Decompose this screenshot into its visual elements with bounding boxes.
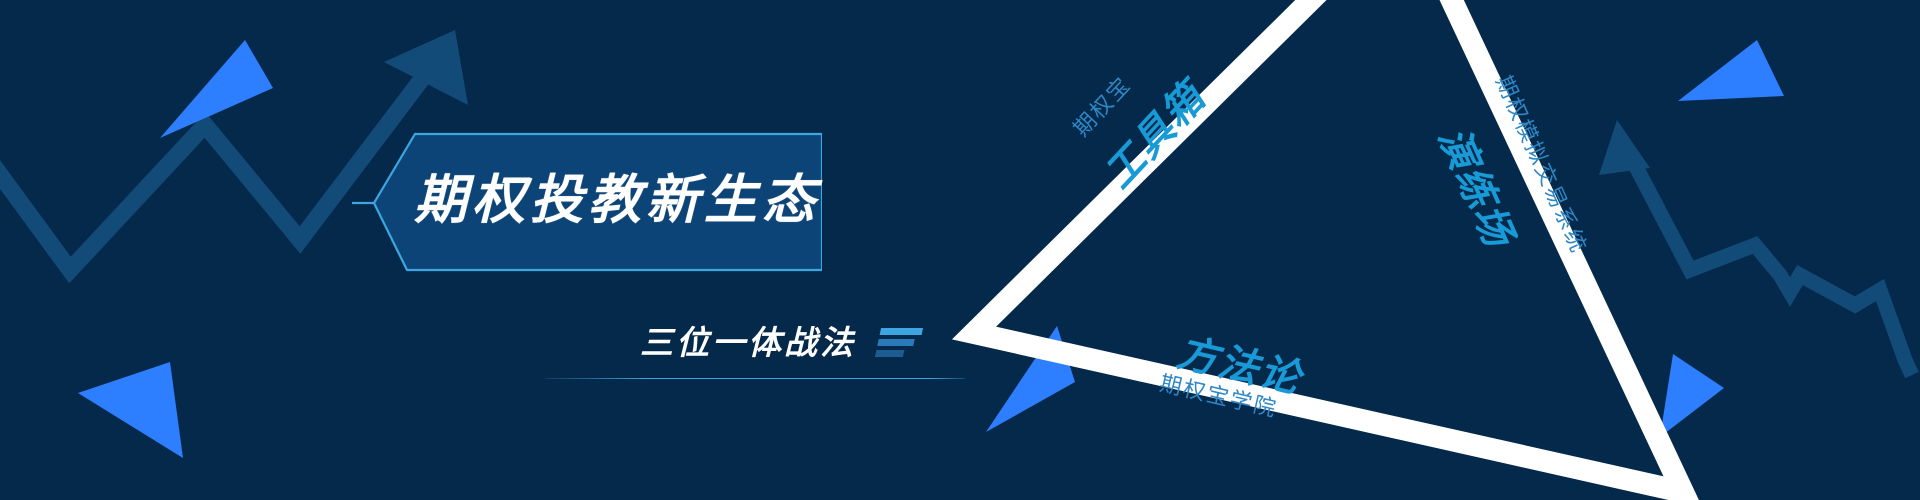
bar-1 (880, 328, 923, 335)
bar-3 (875, 350, 904, 357)
subtitle-block: 三位一体战法 (545, 318, 965, 393)
bar-2 (877, 339, 914, 346)
subtitle-text: 三位一体战法 (640, 326, 856, 359)
three-bars-icon (875, 328, 923, 357)
title-badge: 期权投教新生态 (352, 128, 822, 278)
promo-banner: 期权投教新生态 三位一体战法 期权宝 工具箱 期权模拟交易系统 演练场 方法论 … (0, 0, 1920, 500)
page-title: 期权投教新生态 (414, 150, 794, 250)
triangle-frame (0, 0, 1920, 500)
subtitle-divider (545, 378, 965, 379)
